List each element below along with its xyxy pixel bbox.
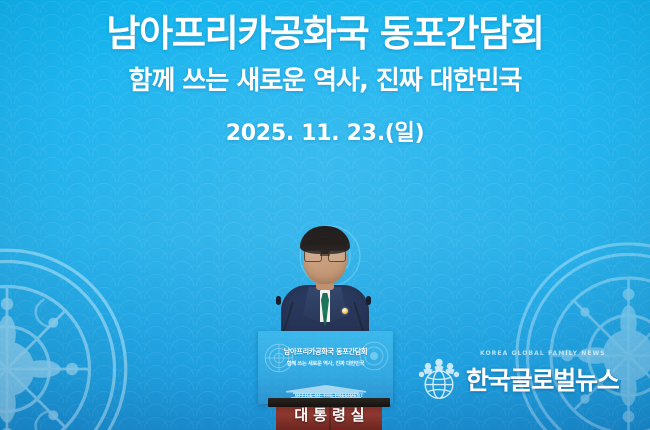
microphone-head-right	[366, 296, 371, 305]
globe-with-people-logo-icon	[416, 356, 462, 402]
podium-emblem-english: OFFICE OF THE PRESIDENT	[292, 395, 366, 399]
gold-lapel-pin-icon	[342, 308, 348, 314]
backdrop-headline: 남아프리카공화국 동포간담회 함께 쓰는 새로운 역사, 진짜 대한민국 202…	[0, 14, 650, 146]
backdrop-date: 2025. 11. 23.(일)	[0, 122, 650, 146]
stage-photo: 남아프리카공화국 동포간담회 함께 쓰는 새로운 역사, 진짜 대한민국 202…	[0, 0, 650, 430]
backdrop-title: 남아프리카공화국 동포간담회	[0, 14, 650, 54]
watermark: KOREA GLOBAL FAMILY NEWS 한국글로벌뉴스	[416, 356, 619, 402]
podium-banner-title: 남아프리카공화국 동포간담회	[258, 347, 393, 357]
watermark-english: KOREA GLOBAL FAMILY NEWS	[480, 350, 606, 357]
podium-office-label: 대통령실	[262, 404, 402, 425]
podium-banner-subtitle: 함께 쓰는 새로운 역사, 진짜 대한민국	[258, 360, 393, 367]
watermark-korean: 한국글로벌뉴스	[466, 361, 619, 397]
glasses-icon	[304, 250, 346, 261]
backdrop-subtitle: 함께 쓰는 새로운 역사, 진짜 대한민국	[0, 67, 650, 96]
korean-floral-medallion-left	[0, 244, 132, 430]
microphone-head-left	[276, 296, 281, 305]
